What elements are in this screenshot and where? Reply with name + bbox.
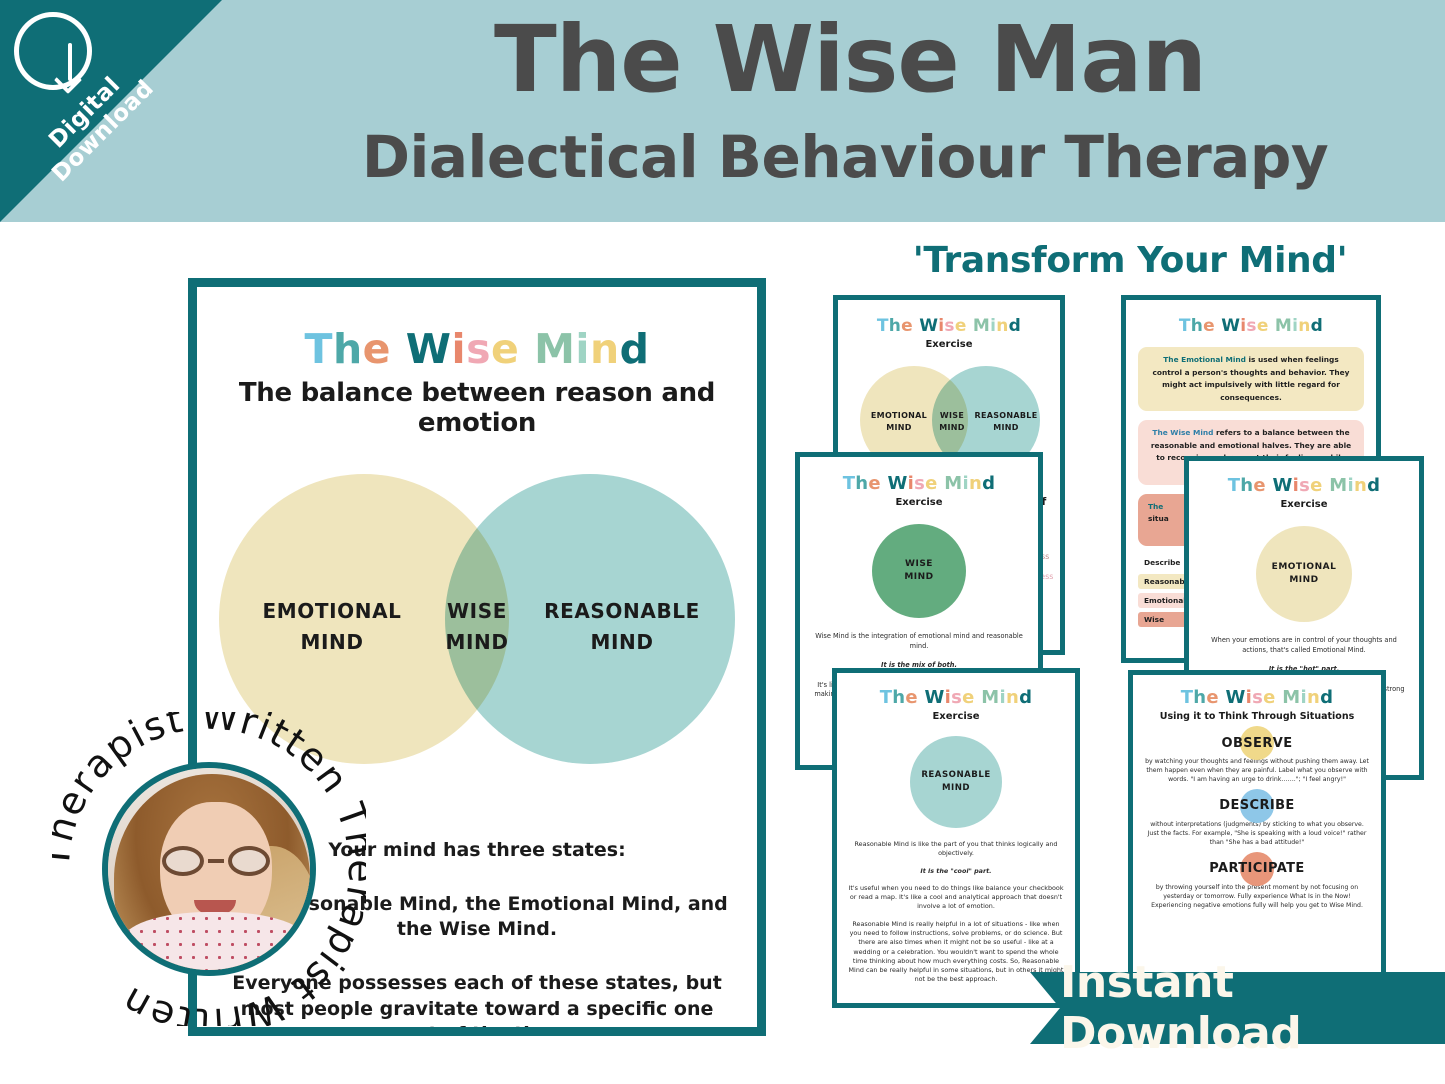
title-letter: T: [880, 687, 893, 708]
step-participate: PARTICIPATE by throwing yourself into th…: [1133, 854, 1381, 911]
venn-label-reasonable: REASONABLEMIND: [527, 596, 717, 658]
title-letter: e: [491, 325, 519, 373]
title-letter: e: [1263, 687, 1276, 708]
title-letter: W: [925, 687, 945, 708]
title-letter: i: [575, 325, 590, 373]
glasses-icon: [160, 846, 272, 876]
title-letter: e: [901, 316, 913, 336]
step-observe: OBSERVE by watching your thoughts and fe…: [1133, 728, 1381, 785]
title-letter: h: [889, 316, 901, 336]
thumbnail-reasonable-mind[interactable]: The Wise Mind Exercise REASONABLEMIND Re…: [832, 668, 1080, 1008]
download-circle-arrow-icon: [14, 12, 92, 90]
poster-wise-mind-title: The Wise Mind: [197, 329, 757, 370]
instant-download-banner: Instant Download: [1060, 972, 1445, 1044]
title-letter: h: [1193, 687, 1206, 708]
thumbnail-observe-describe-participate[interactable]: The Wise Mind Using it to Think Through …: [1128, 670, 1386, 1000]
title-letter: e: [955, 316, 967, 336]
title-letter: h: [855, 473, 868, 494]
thumb-title: The Wise Mind: [1189, 477, 1419, 495]
title-letter: e: [1310, 475, 1323, 496]
title-letter: T: [843, 473, 856, 494]
title-letter: d: [1311, 316, 1323, 336]
thumb-subtitle: Exercise: [800, 497, 1038, 508]
thumb-body-line: When your emotions are in control of you…: [1201, 636, 1407, 655]
thumb-title: The Wise Mind: [1126, 318, 1376, 335]
banner-label: Instant Download: [1060, 957, 1445, 1059]
title-letter: s: [1299, 475, 1310, 496]
download-arrow-icon: [68, 43, 72, 81]
title-letter: d: [620, 325, 650, 373]
thumb-body-line: Reasonable Mind is like the part of you …: [847, 840, 1065, 859]
definition-box-emotional: The Emotional Mind is used when feelings…: [1138, 347, 1364, 411]
definition-text: situa: [1148, 514, 1169, 523]
step-text: without interpretations (judgments) by s…: [1133, 821, 1381, 848]
title-letter: d: [1320, 687, 1333, 708]
poster-canvas: The Wise Man Dialectical Behaviour Thera…: [0, 0, 1445, 1084]
title-letter: s: [466, 325, 491, 373]
thumb-subtitle: Exercise: [838, 339, 1060, 350]
title-letter: h: [1240, 475, 1253, 496]
venn-label-emotional: EMOTIONALMIND: [237, 596, 427, 658]
thumb-title: The Wise Mind: [800, 475, 1038, 493]
definition-highlight: The Wise Mind: [1152, 428, 1213, 437]
definition-highlight: The: [1148, 502, 1163, 511]
title-letter: W: [1273, 475, 1293, 496]
title-letter: W: [888, 473, 908, 494]
title-letter: [1266, 475, 1273, 496]
title-letter: [519, 325, 534, 373]
title-letter: i: [452, 325, 467, 373]
title-letter: W: [1226, 687, 1246, 708]
title-letter: e: [1257, 316, 1269, 336]
title-letter: s: [914, 473, 925, 494]
title-letter: T: [1179, 316, 1191, 336]
thumb-body: Reasonable Mind is like the part of you …: [837, 840, 1075, 985]
therapist-written-badge: Therapist Written Therapist Written: [52, 712, 366, 1026]
title-letter: d: [1019, 687, 1032, 708]
title-letter: h: [333, 325, 363, 373]
title-letter: [1219, 687, 1226, 708]
header-band: The Wise Man Dialectical Behaviour Thera…: [0, 0, 1445, 222]
page-title: The Wise Man: [260, 14, 1440, 106]
title-letter: e: [868, 473, 881, 494]
title-letter: e: [925, 473, 938, 494]
venn-label-wise: WISEMIND: [429, 596, 525, 658]
title-letter: W: [919, 316, 938, 336]
transform-your-mind-title: 'Transform Your Mind': [820, 240, 1440, 281]
title-letter: n: [1298, 316, 1310, 336]
title-letter: n: [590, 325, 620, 373]
circle-reasonable-mind: REASONABLEMIND: [910, 736, 1002, 828]
thumb-subtitle: Exercise: [1189, 499, 1419, 510]
title-letter: e: [962, 687, 975, 708]
thumb-subtitle: Using it to Think Through Situations: [1133, 711, 1381, 722]
title-letter: n: [1006, 687, 1019, 708]
title-letter: s: [944, 316, 954, 336]
thumb-title: The Wise Mind: [1133, 689, 1381, 707]
digital-download-ribbon: Digital Download: [0, 0, 222, 222]
thumb-body-line: It's useful when you need to do things l…: [847, 884, 1065, 912]
step-text: by watching your thoughts and feelings w…: [1133, 758, 1381, 785]
title-letter: M: [944, 473, 962, 494]
title-letter: d: [982, 473, 995, 494]
title-letter: [918, 687, 925, 708]
title-letter: T: [877, 316, 889, 336]
title-letter: T: [1228, 475, 1241, 496]
title-letter: d: [1367, 475, 1380, 496]
title-letter: M: [973, 316, 990, 336]
title-letter: T: [1181, 687, 1194, 708]
title-letter: d: [1009, 316, 1021, 336]
title-letter: n: [1354, 475, 1367, 496]
title-letter: n: [1307, 687, 1320, 708]
poster-subtitle: The balance between reason and emotion: [197, 378, 757, 438]
title-letter: e: [1206, 687, 1219, 708]
title-letter: e: [1203, 316, 1215, 336]
title-letter: n: [996, 316, 1008, 336]
step-label: OBSERVE: [1222, 736, 1293, 751]
title-letter: e: [905, 687, 918, 708]
thumb-body-line: Wise Mind is the integration of emotiona…: [812, 632, 1026, 651]
title-letter: s: [951, 687, 962, 708]
circle-emotional-mind: EMOTIONALMIND: [1256, 526, 1352, 622]
title-letter: [391, 325, 406, 373]
title-letter: e: [363, 325, 391, 373]
thumb-subtitle: Exercise: [837, 711, 1075, 722]
title-letter: W: [406, 325, 452, 373]
title-letter: [881, 473, 888, 494]
title-letter: M: [1329, 475, 1347, 496]
title-letter: h: [892, 687, 905, 708]
title-letter: s: [1246, 316, 1256, 336]
mini-venn-label-reasonable: REASONABLEMIND: [968, 410, 1044, 434]
mini-venn-label-emotional: EMOTIONALMIND: [862, 410, 936, 434]
step-label: DESCRIBE: [1219, 798, 1294, 813]
page-subtitle: Dialectical Behaviour Therapy: [250, 128, 1440, 186]
definition-highlight: The Emotional Mind: [1163, 355, 1246, 364]
thumb-title: The Wise Mind: [838, 318, 1060, 335]
thumb-title: The Wise Mind: [837, 689, 1075, 707]
step-describe: DESCRIBE without interpretations (judgme…: [1133, 791, 1381, 848]
mini-venn-diagram: EMOTIONALMIND WISEMIND REASONABLEMIND: [838, 366, 1060, 454]
avatar: [102, 762, 316, 976]
title-letter: M: [1282, 687, 1300, 708]
title-letter: M: [534, 325, 575, 373]
circle-wise-mind: WISEMIND: [872, 524, 966, 618]
title-letter: s: [1252, 687, 1263, 708]
thumb-body-emphasis: It is the "cool" part.: [847, 867, 1065, 876]
mini-venn-label-wise: WISEMIND: [932, 410, 972, 434]
avatar-shirt-pattern: [122, 912, 308, 976]
title-letter: n: [969, 473, 982, 494]
step-text: by throwing yourself into the present mo…: [1133, 884, 1381, 911]
title-letter: h: [1191, 316, 1203, 336]
title-letter: M: [981, 687, 999, 708]
title-letter: e: [1253, 475, 1266, 496]
step-label: PARTICIPATE: [1209, 861, 1304, 876]
title-letter: T: [305, 325, 333, 373]
title-letter: M: [1275, 316, 1292, 336]
title-letter: W: [1221, 316, 1240, 336]
